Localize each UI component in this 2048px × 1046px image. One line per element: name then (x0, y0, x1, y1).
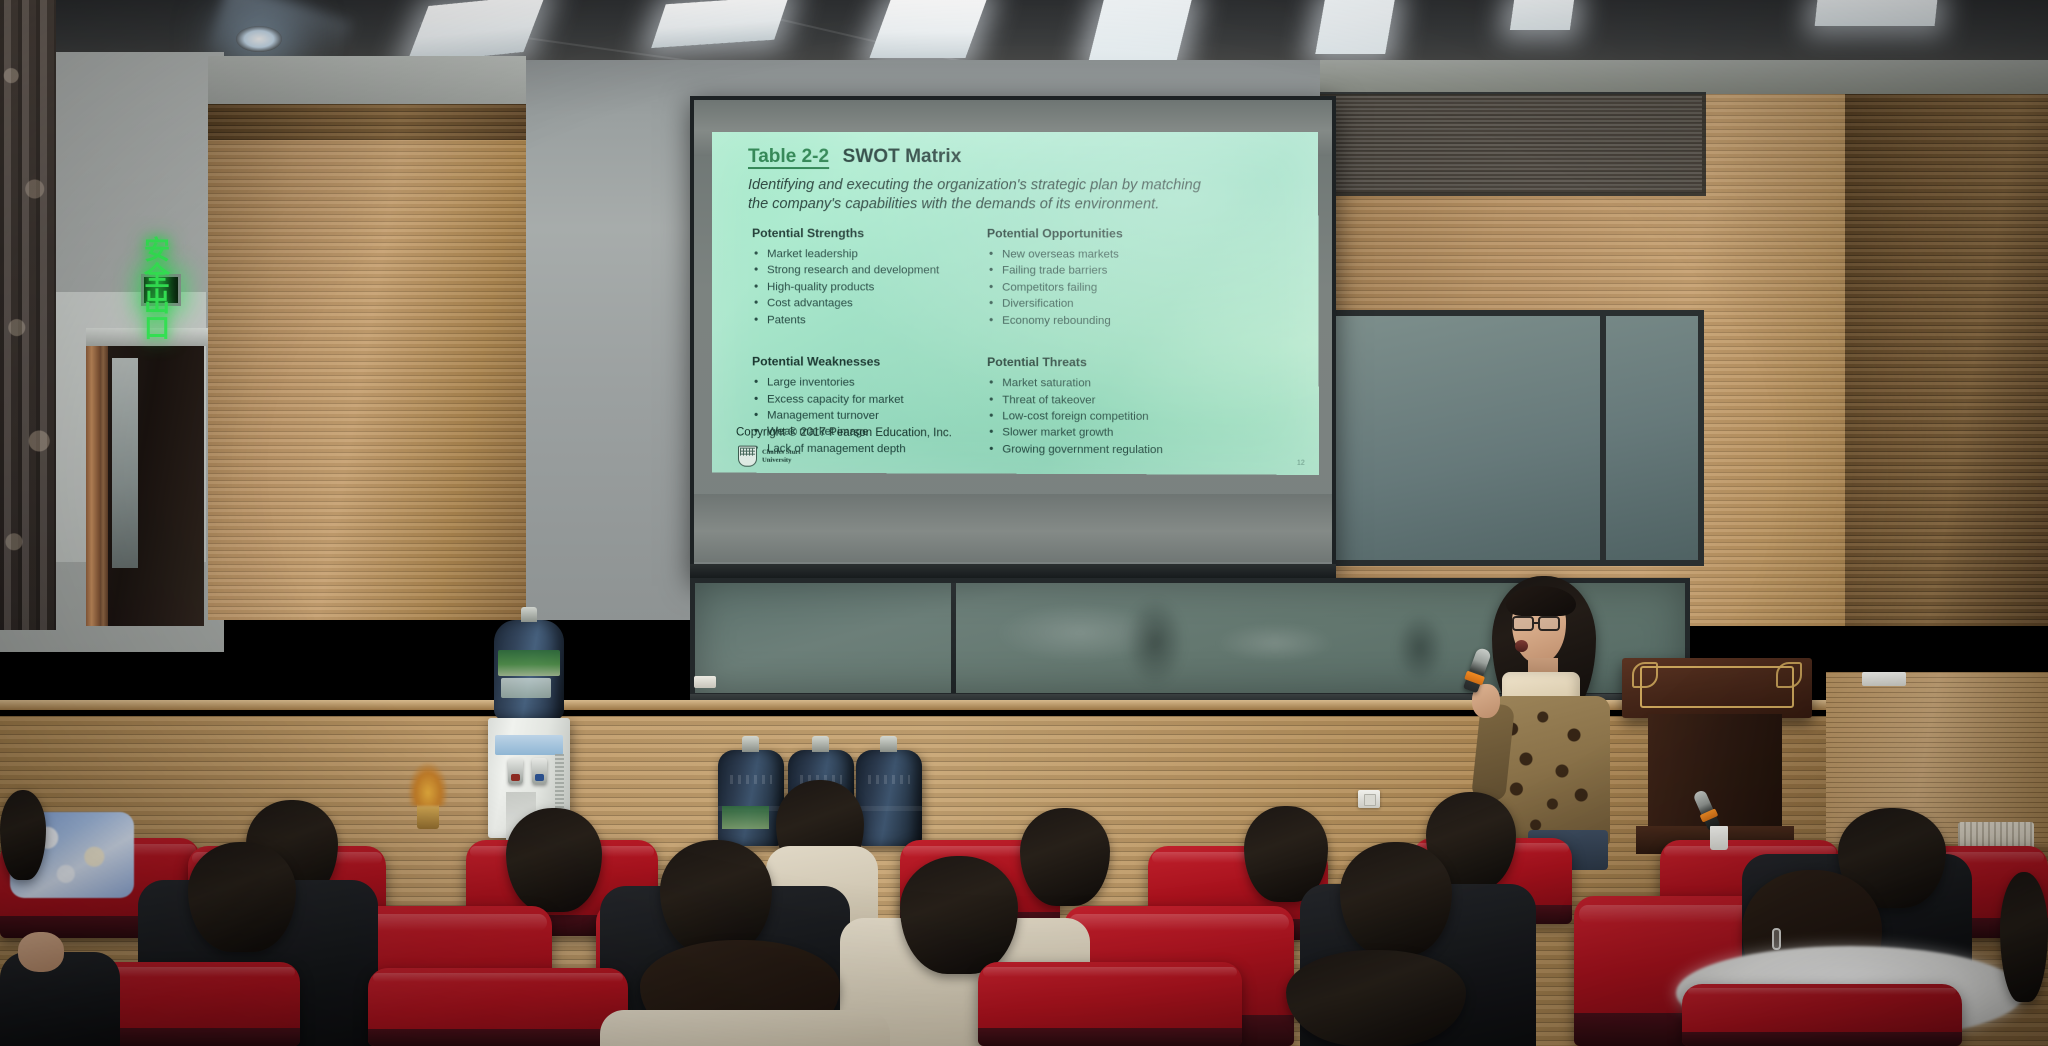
slide-title-row: Table 2-2 SWOT Matrix (748, 146, 961, 168)
swot-quadrant-weaknesses: Potential Weaknesses Large inventories E… (752, 354, 959, 457)
ceiling-light-panel (1510, 0, 1574, 30)
wood-wall-panel (208, 60, 526, 620)
projection-screen-frame: Table 2-2 SWOT Matrix Identifying and ex… (690, 96, 1336, 580)
swot-item: Market leadership (752, 246, 959, 263)
swot-matrix-grid: Potential Strengths Market leadership St… (752, 226, 1195, 458)
spare-water-bottle (856, 750, 922, 846)
swot-heading: Potential Weaknesses (752, 354, 959, 369)
cooler-tap-hot[interactable] (508, 758, 523, 784)
swot-item: Failing trade barriers (987, 263, 1195, 280)
swot-item: Management turnover (752, 407, 959, 424)
swot-item: High-quality products (752, 279, 959, 296)
bottle-label-secondary (501, 678, 551, 698)
swot-item: Threat of takeover (987, 392, 1195, 409)
university-logo: Charles Sturt University (738, 446, 800, 467)
water-bottle-on-cooler (494, 620, 564, 720)
audience-hand (18, 932, 64, 972)
swot-item: Strong research and development (752, 263, 959, 280)
swot-item: Low-cost foreign competition (987, 408, 1195, 425)
logo-text: Charles Sturt University (762, 448, 800, 464)
cooler-decal (495, 735, 564, 755)
ceiling-spotlight (236, 26, 282, 52)
chalkboard-mark (1395, 613, 1445, 683)
bottle-grip (868, 775, 910, 784)
window-curtain (0, 0, 56, 630)
bottle-grip (730, 775, 772, 784)
wall-trim (208, 56, 526, 108)
swot-item: Diversification (987, 296, 1195, 313)
audience-head (900, 856, 1018, 974)
chalkboard-mark (1125, 597, 1185, 687)
swot-quadrant-opportunities: Potential Opportunities New overseas mar… (987, 226, 1195, 329)
ceiling-light-panel (1315, 0, 1395, 54)
eyeglasses-icon (1538, 616, 1560, 631)
presenter-fringe (1506, 586, 1576, 616)
eyeglasses-bridge (1534, 622, 1539, 624)
swot-item: Cost advantages (752, 295, 959, 312)
swot-quadrant-threats: Potential Threats Market saturation Thre… (987, 355, 1195, 458)
swot-item-list: Market saturation Threat of takeover Low… (987, 375, 1195, 458)
audience-head (0, 790, 46, 880)
eraser[interactable] (694, 676, 716, 688)
swot-heading: Potential Strengths (752, 226, 959, 240)
swot-heading: Potential Opportunities (987, 226, 1195, 240)
swot-item: Patents (752, 312, 959, 329)
lecture-hall-photo: 安全出口 Table 2-2 SWOT Matrix Identifying a… (0, 0, 2048, 1046)
ceiling-light-panel (1815, 0, 1938, 26)
hair-clip (1772, 928, 1781, 950)
wall-trim-right (1320, 60, 2048, 94)
bottle-label (722, 806, 770, 829)
swot-item-list: New overseas markets Failing trade barri… (987, 246, 1195, 329)
slide-page-number: 12 (1297, 460, 1305, 467)
swot-item-list: Market leadership Strong research and de… (752, 246, 959, 329)
swot-item: Excess capacity for market (752, 391, 959, 408)
presenter-mouth (1515, 640, 1528, 652)
audience-body (0, 952, 120, 1046)
eyeglasses-icon (1512, 616, 1534, 631)
paper-cup[interactable] (1710, 826, 1728, 850)
seat[interactable] (368, 968, 628, 1046)
swot-item: Slower market growth (987, 425, 1195, 442)
swot-item: Market saturation (987, 375, 1195, 392)
lectern-gold-corner (1776, 662, 1802, 688)
swot-item: Growing government regulation (987, 441, 1195, 458)
chalkboard-divider (951, 583, 956, 693)
bottle-band (856, 806, 922, 811)
swot-item: Large inventories (752, 375, 959, 392)
logo-line-2: University (762, 456, 800, 464)
microphone-orange-ring (1700, 808, 1719, 822)
slide-table-number: Table 2-2 (748, 146, 829, 169)
dried-flowers (408, 762, 448, 806)
projected-slide: Table 2-2 SWOT Matrix Identifying and ex… (712, 132, 1319, 475)
chalk-smudge (1215, 623, 1335, 663)
slide-title: SWOT Matrix (843, 146, 962, 167)
exit-sign-glyph: 安全出口 (144, 238, 178, 342)
swot-quadrant-strengths: Potential Strengths Market leadership St… (752, 226, 959, 329)
cooler-tap-cold[interactable] (532, 758, 547, 784)
screen-blank-bottom (694, 494, 1332, 562)
window-mullion (1600, 310, 1606, 566)
door-glass-panel (112, 358, 138, 568)
audience-head (188, 842, 296, 952)
projection-screen-surface: Table 2-2 SWOT Matrix Identifying and ex… (694, 100, 1332, 576)
audience-head (1286, 950, 1466, 1046)
audience-head (2000, 872, 2048, 1002)
crest-icon (738, 446, 757, 467)
microphone-orange-ring (1464, 671, 1485, 686)
door-frame (86, 340, 100, 626)
swot-item: Economy rebounding (987, 312, 1195, 329)
cooler-vent (555, 754, 564, 812)
emergency-exit-sign: 安全出口 (141, 274, 181, 306)
swot-item: New overseas markets (987, 246, 1195, 263)
seat[interactable] (978, 962, 1242, 1046)
audience-body (600, 1010, 890, 1046)
audience-head (660, 840, 772, 954)
logo-line-1: Charles Sturt (762, 448, 800, 456)
ceiling-vent-grill (1320, 92, 1706, 196)
wood-wall-panel-right-dark (1845, 66, 2048, 626)
spare-water-bottle (718, 750, 784, 846)
wall-outlet[interactable] (1358, 790, 1380, 808)
tissue-box[interactable] (1862, 672, 1906, 686)
audience-head (1020, 808, 1110, 906)
audience-head (1340, 842, 1452, 956)
swot-item: Competitors failing (987, 279, 1195, 296)
window-right (1320, 310, 1704, 566)
seat[interactable] (1682, 984, 1962, 1046)
slide-copyright: Copyright © 2017 Pearson Education, Inc. (736, 427, 952, 440)
bottle-label (498, 650, 560, 676)
ceiling-light-panel (1088, 0, 1191, 62)
lectern-gold-inlay (1640, 666, 1794, 708)
wood-wall-trim (208, 104, 526, 140)
door-frame (100, 340, 108, 626)
audience-head (506, 808, 602, 912)
slide-subtitle: Identifying and executing the organizati… (748, 176, 1221, 214)
swot-heading: Potential Threats (987, 355, 1195, 370)
